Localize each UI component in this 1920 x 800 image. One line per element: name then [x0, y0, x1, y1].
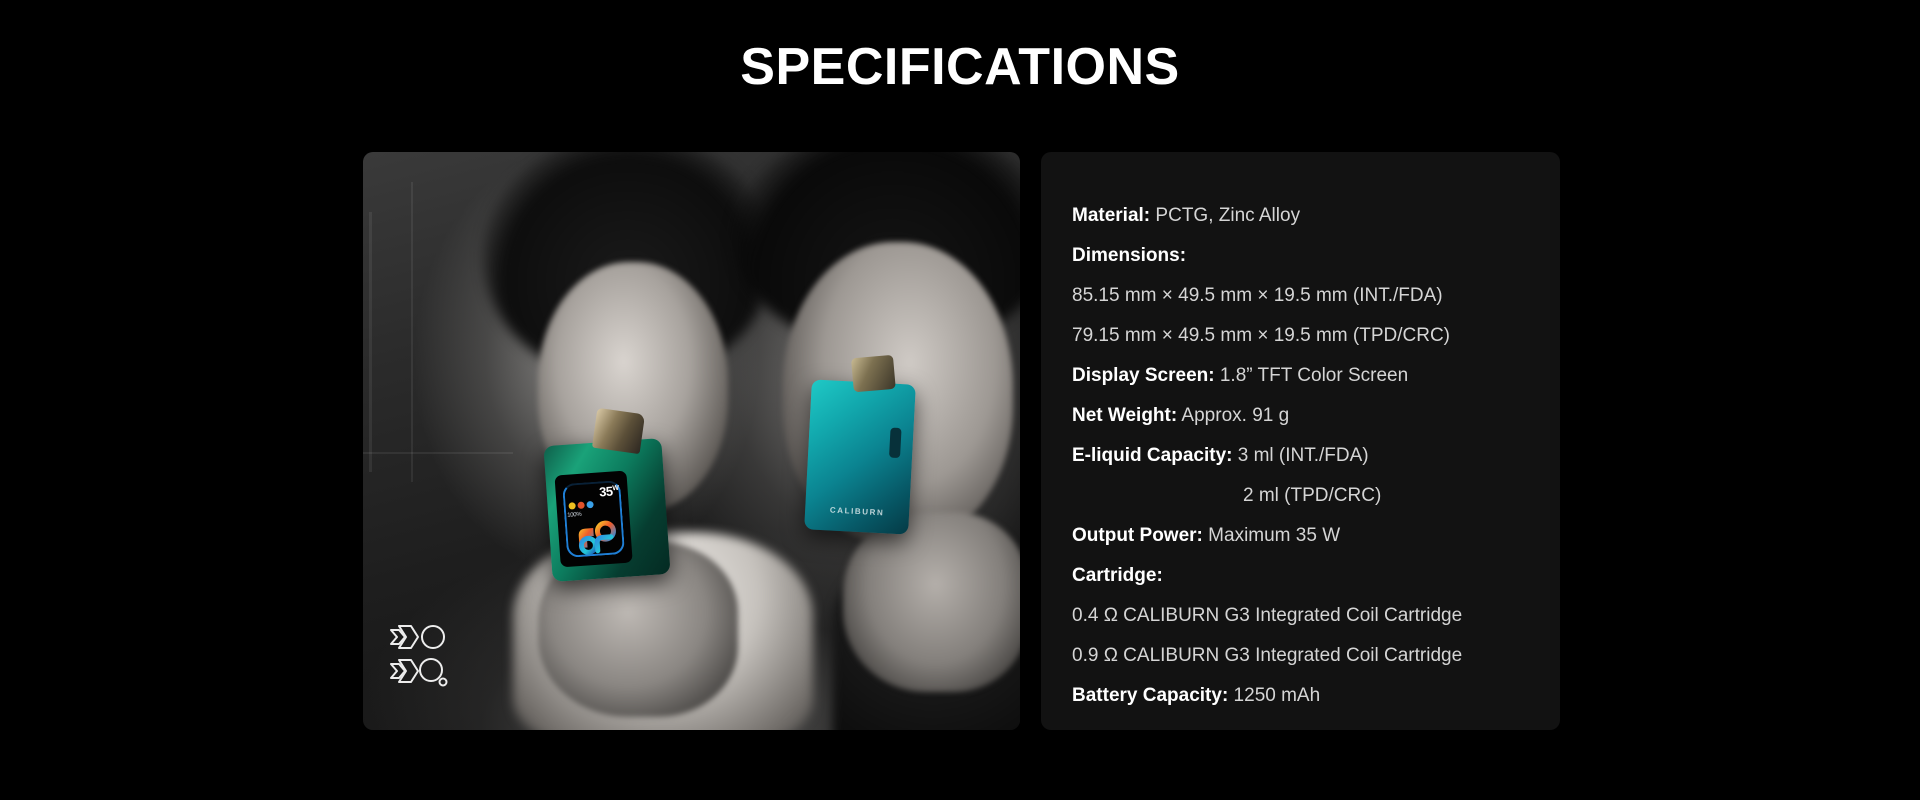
spec-value: Maximum 35 W	[1203, 525, 1340, 546]
spec-label: Cartridge:	[1072, 565, 1163, 586]
spec-label: Output Power:	[1072, 525, 1203, 546]
screen-wattage-number: 35	[599, 484, 613, 500]
model-hand-right	[843, 512, 1020, 692]
spec-line: Net Weight: Approx. 91 g	[1072, 396, 1560, 436]
specifications-list: Material: PCTG, Zinc AlloyDimensions:85.…	[1072, 196, 1560, 716]
spec-line: 0.4 Ω CALIBURN G3 Integrated Coil Cartri…	[1072, 596, 1560, 636]
spec-line: Material: PCTG, Zinc Alloy	[1072, 196, 1560, 236]
teal-device: CALIBURN	[804, 379, 916, 534]
spec-value: 0.9 Ω CALIBURN G3 Integrated Coil Cartri…	[1072, 645, 1462, 666]
green-device: 35W 100%	[543, 438, 670, 582]
spec-line: E-liquid Capacity: 3 ml (INT./FDA)	[1072, 436, 1560, 476]
spec-line: Cartridge:	[1072, 556, 1560, 596]
product-hero-image: 35W 100%	[363, 152, 1020, 730]
device-tft-screen: 35W 100%	[554, 471, 632, 568]
spec-line: 0.9 Ω CALIBURN G3 Integrated Coil Cartri…	[1072, 636, 1560, 676]
spec-line: 79.15 mm × 49.5 mm × 19.5 mm (TPD/CRC)	[1072, 316, 1560, 356]
spec-label: Net Weight:	[1072, 405, 1177, 426]
specifications-panel: Material: PCTG, Zinc AlloyDimensions:85.…	[1041, 152, 1560, 730]
spec-label: Display Screen:	[1072, 365, 1215, 386]
backdrop-line	[363, 452, 513, 454]
spec-line: 85.15 mm × 49.5 mm × 19.5 mm (INT./FDA)	[1072, 276, 1560, 316]
backdrop-line	[369, 212, 372, 472]
spec-value: 0.4 Ω CALIBURN G3 Integrated Coil Cartri…	[1072, 605, 1462, 626]
spec-label: Battery Capacity:	[1072, 685, 1228, 706]
screen-wattage-value: 35W	[599, 483, 620, 499]
spec-value: 1.8” TFT Color Screen	[1215, 365, 1409, 386]
spec-line: 2 ml (TPD/CRC)	[1072, 476, 1560, 516]
spec-value: 85.15 mm × 49.5 mm × 19.5 mm (INT./FDA)	[1072, 285, 1443, 306]
device-mouthpiece	[851, 355, 896, 393]
screen-dot	[577, 502, 584, 509]
spec-label: Material:	[1072, 205, 1150, 226]
specifications-content-row: 35W 100%	[363, 152, 1560, 730]
spec-line: Dimensions:	[1072, 236, 1560, 276]
device-mouthpiece	[592, 408, 645, 454]
screen-wattage-unit: W	[612, 485, 619, 492]
spec-label: E-liquid Capacity:	[1072, 445, 1232, 466]
spec-value: 79.15 mm × 49.5 mm × 19.5 mm (TPD/CRC)	[1072, 325, 1450, 346]
spec-value: 1250 mAh	[1228, 685, 1320, 706]
hero-photo-backdrop: 35W 100%	[363, 152, 1020, 730]
spec-value: 2 ml (TPD/CRC)	[1243, 485, 1381, 506]
caliburn-ko-logo-watermark	[385, 622, 457, 690]
screen-dot	[568, 502, 575, 509]
spec-value: PCTG, Zinc Alloy	[1150, 205, 1300, 226]
spec-value: 3 ml (INT./FDA)	[1232, 445, 1368, 466]
spec-line: Display Screen: 1.8” TFT Color Screen	[1072, 356, 1560, 396]
screen-dot	[586, 501, 593, 508]
page-title: SPECIFICATIONS	[0, 38, 1920, 98]
spec-label: Dimensions:	[1072, 245, 1186, 266]
device-airflow-slot	[889, 428, 902, 459]
backdrop-line	[411, 182, 413, 482]
caliburn-g3-screen-logo	[572, 517, 620, 556]
spec-value: Approx. 91 g	[1177, 405, 1289, 426]
device-brand-label: CALIBURN	[805, 504, 909, 518]
spec-line: Output Power: Maximum 35 W	[1072, 516, 1560, 556]
screen-battery-label: 100%	[567, 512, 582, 519]
spec-line: Battery Capacity: 1250 mAh	[1072, 676, 1560, 716]
